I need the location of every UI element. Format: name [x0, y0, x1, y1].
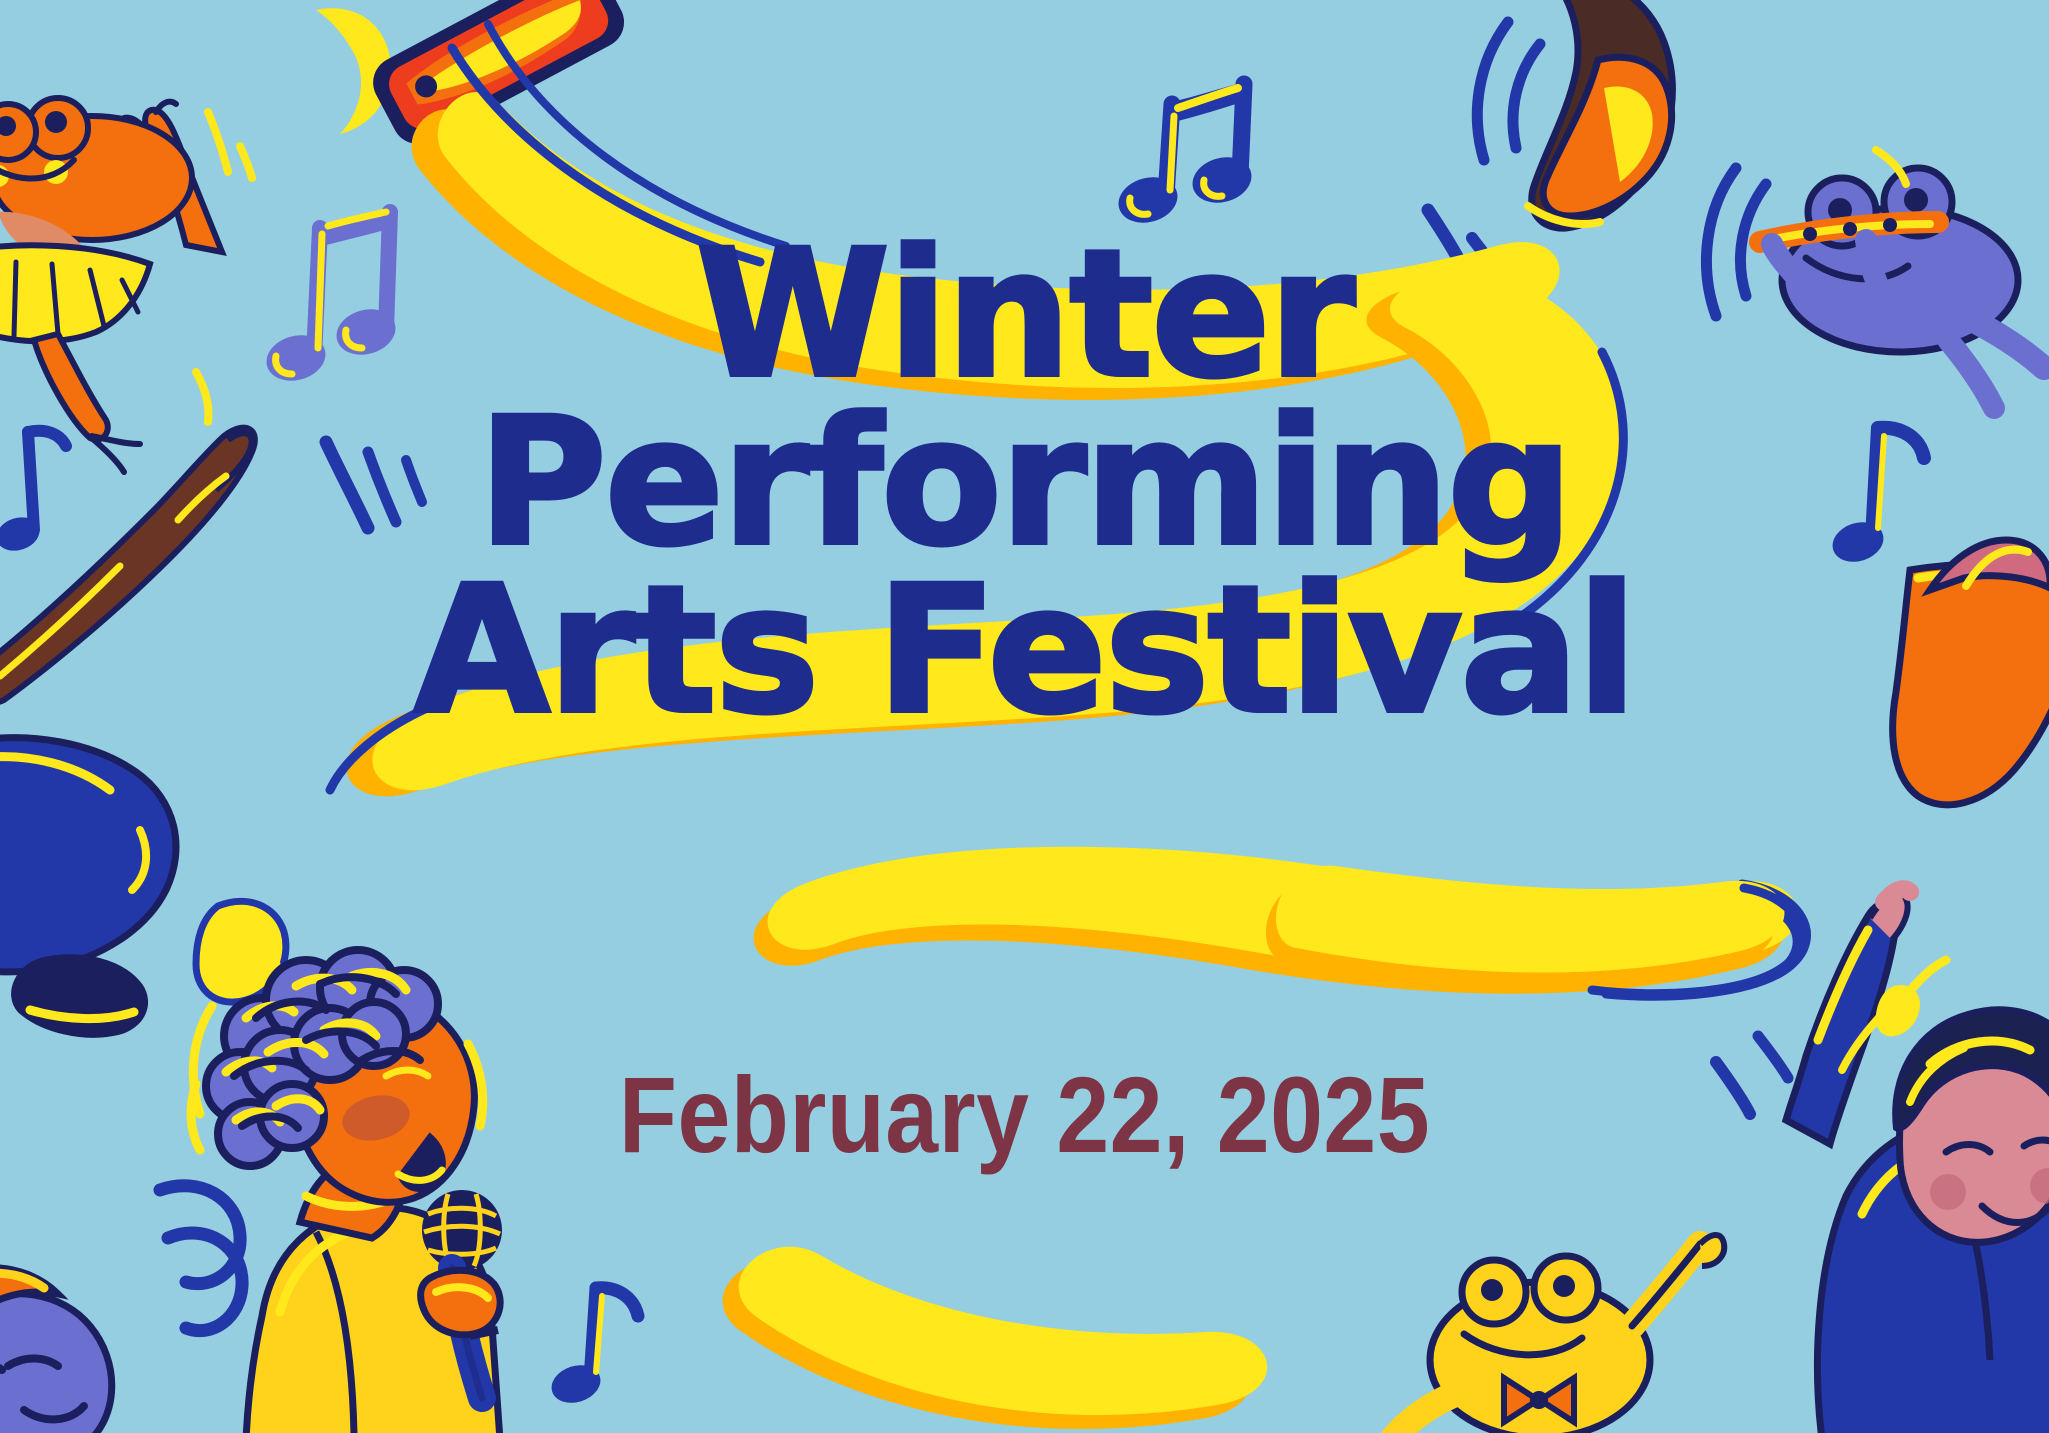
poster-canvas: .ink { stroke:#1b1f5e; stroke-linecap:ro… [0, 0, 2049, 1433]
yellow-swoosh-ribbon [0, 0, 2049, 1433]
